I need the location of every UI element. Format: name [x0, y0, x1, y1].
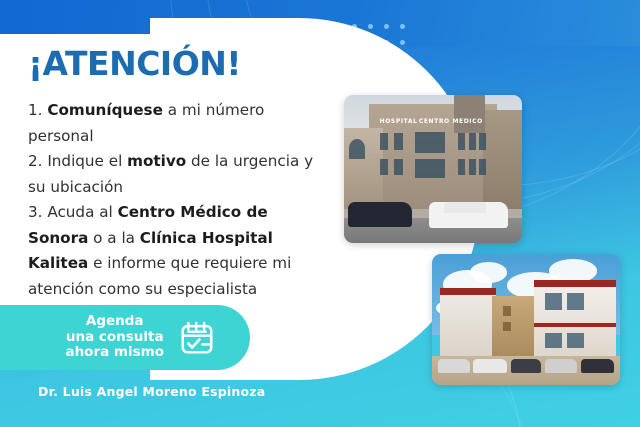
doctor-name: Dr. Luis Angel Moreno Espinoza	[38, 384, 265, 399]
list-item: 2. Indique el motivo de la urgencia y su…	[28, 149, 328, 200]
instruction-list: 1. Comuníquese a mi número personal 2. I…	[28, 98, 328, 302]
photo-sign-text: HOSPITAL CENTRO MEDICO	[380, 116, 483, 128]
poster-canvas: ¡ATENCIÓN! 1. Comuníquese a mi número pe…	[0, 0, 640, 427]
cta-line-2: una consulta	[65, 330, 164, 346]
cta-line-1: Agenda	[65, 314, 164, 330]
list-item: 3. Acuda al Centro Médico de Sonora o a …	[28, 200, 328, 302]
cta-text: Agenda una consulta ahora mismo	[65, 314, 164, 361]
cta-line-3: ahora mismo	[65, 345, 164, 361]
list-item: 1. Comuníquese a mi número personal	[28, 98, 328, 149]
schedule-appointment-cta[interactable]: Agenda una consulta ahora mismo	[0, 305, 250, 370]
calendar-check-icon	[178, 319, 216, 357]
page-title: ¡ATENCIÓN!	[28, 44, 241, 83]
hospital-centro-medico-photo: HOSPITAL CENTRO MEDICO	[344, 95, 522, 243]
clinica-hospital-kalitea-photo	[432, 254, 620, 385]
